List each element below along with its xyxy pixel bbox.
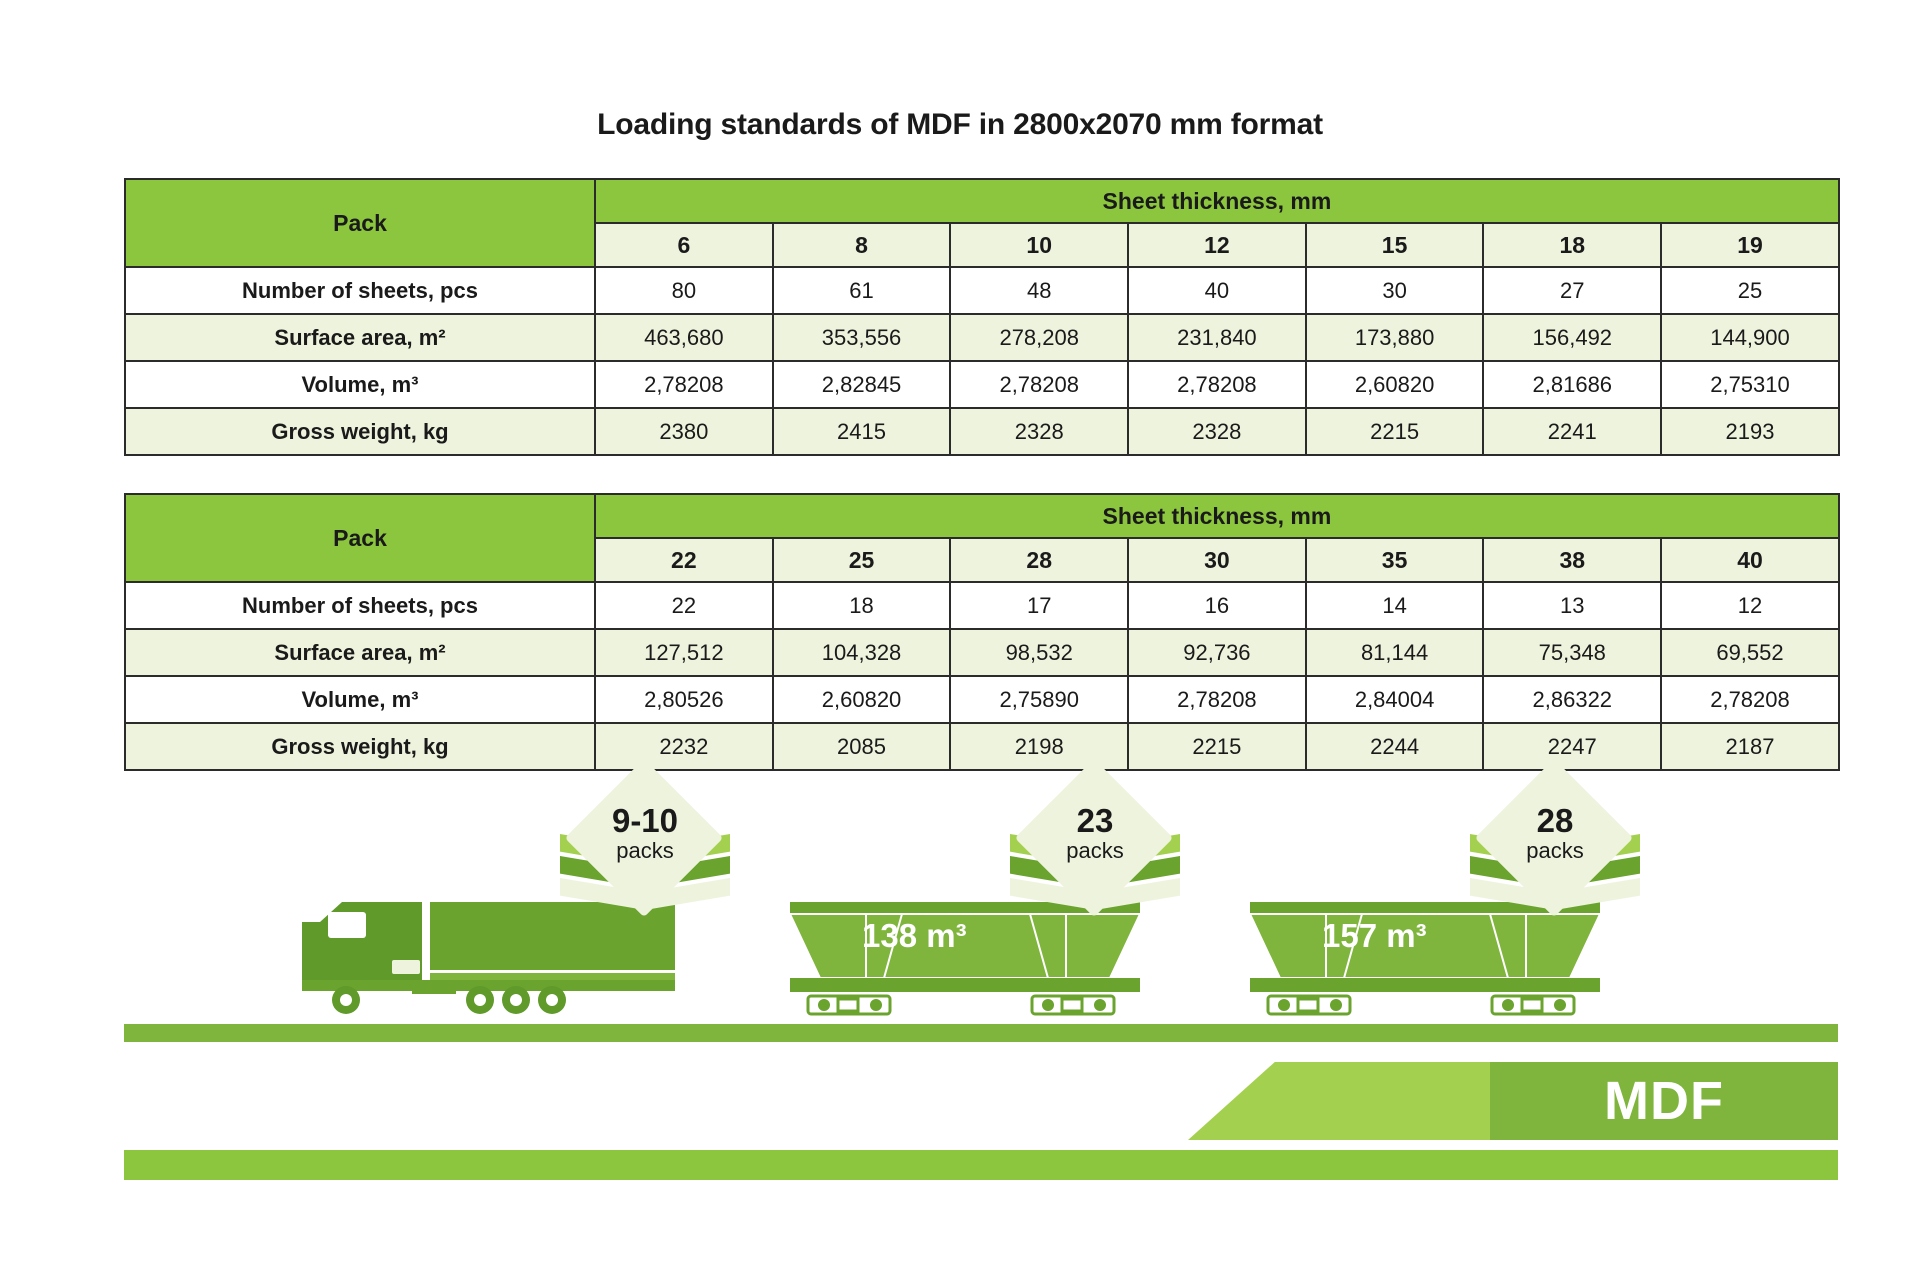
cell: 2,60820 (773, 676, 951, 723)
wagon-1-pack-count: 23 (1010, 804, 1180, 838)
cell: 144,900 (1661, 314, 1839, 361)
wagon-1-pack-unit: packs (1010, 838, 1180, 864)
sheet-thickness-header: Sheet thickness, mm (595, 494, 1839, 538)
cell: 2,86322 (1483, 676, 1661, 723)
truck-pack-text: 9-10 packs (560, 804, 730, 864)
cell: 80 (595, 267, 773, 314)
row-label: Number of sheets, pcs (125, 267, 595, 314)
cell: 27 (1483, 267, 1661, 314)
row-label: Number of sheets, pcs (125, 582, 595, 629)
loading-table-thick: Pack Sheet thickness, mm 22 25 28 30 35 … (124, 493, 1838, 771)
thickness-header-6: 19 (1661, 223, 1839, 267)
cell: 81,144 (1306, 629, 1484, 676)
cell: 2241 (1483, 408, 1661, 455)
thickness-header-3: 12 (1128, 223, 1306, 267)
wagon-capacity-1: 138 m³ (862, 917, 967, 955)
row-label: Gross weight, kg (125, 723, 595, 770)
thickness-header-1: 8 (773, 223, 951, 267)
table-row: Volume, m³ 2,78208 2,82845 2,78208 2,782… (125, 361, 1839, 408)
table-row: Number of sheets, pcs 80 61 48 40 30 27 … (125, 267, 1839, 314)
table-header-row: Pack Sheet thickness, mm (125, 494, 1839, 538)
cell: 98,532 (950, 629, 1128, 676)
row-label: Volume, m³ (125, 676, 595, 723)
cell: 22 (595, 582, 773, 629)
cell: 156,492 (1483, 314, 1661, 361)
ground-line (124, 1024, 1838, 1042)
thickness-header-0: 22 (595, 538, 773, 582)
wagon-2-pack-text: 28 packs (1470, 804, 1640, 864)
cell: 2215 (1306, 408, 1484, 455)
table-row: Surface area, m² 127,512 104,328 98,532 … (125, 629, 1839, 676)
thickness-header-5: 18 (1483, 223, 1661, 267)
thickness-header-2: 10 (950, 223, 1128, 267)
cell: 92,736 (1128, 629, 1306, 676)
cell: 12 (1661, 582, 1839, 629)
cell: 18 (773, 582, 951, 629)
row-label: Surface area, m² (125, 314, 595, 361)
truck-pack-badge: 9-10 packs (560, 782, 730, 937)
truck-pack-count: 9-10 (560, 804, 730, 838)
wagon-1-pack-badge: 23 packs (1010, 782, 1180, 937)
thickness-header-4: 15 (1306, 223, 1484, 267)
thickness-header-3: 30 (1128, 538, 1306, 582)
cell: 61 (773, 267, 951, 314)
cell: 2415 (773, 408, 951, 455)
cell: 2,78208 (1128, 676, 1306, 723)
cell: 2380 (595, 408, 773, 455)
cell: 278,208 (950, 314, 1128, 361)
cell: 2,78208 (1128, 361, 1306, 408)
table-header-row: Pack Sheet thickness, mm (125, 179, 1839, 223)
cell: 75,348 (1483, 629, 1661, 676)
thickness-header-2: 28 (950, 538, 1128, 582)
cell: 2,78208 (595, 361, 773, 408)
table-row: Volume, m³ 2,80526 2,60820 2,75890 2,782… (125, 676, 1839, 723)
cell: 2,78208 (950, 361, 1128, 408)
table: Pack Sheet thickness, mm 22 25 28 30 35 … (124, 493, 1840, 771)
thickness-header-0: 6 (595, 223, 773, 267)
cell: 2232 (595, 723, 773, 770)
thickness-header-6: 40 (1661, 538, 1839, 582)
cell: 13 (1483, 582, 1661, 629)
cell: 127,512 (595, 629, 773, 676)
thickness-header-1: 25 (773, 538, 951, 582)
cell: 173,880 (1306, 314, 1484, 361)
footer-bar (124, 1150, 1838, 1180)
cell: 25 (1661, 267, 1839, 314)
cell: 2,78208 (1661, 676, 1839, 723)
thickness-header-5: 38 (1483, 538, 1661, 582)
cell: 69,552 (1661, 629, 1839, 676)
cell: 40 (1128, 267, 1306, 314)
cell: 2,84004 (1306, 676, 1484, 723)
table-row: Gross weight, kg 2380 2415 2328 2328 221… (125, 408, 1839, 455)
table-row: Gross weight, kg 2232 2085 2198 2215 224… (125, 723, 1839, 770)
cell: 2,75890 (950, 676, 1128, 723)
cell: 2244 (1306, 723, 1484, 770)
cell: 17 (950, 582, 1128, 629)
pack-header-cell: Pack (125, 179, 595, 267)
row-label: Gross weight, kg (125, 408, 595, 455)
cell: 48 (950, 267, 1128, 314)
cell: 2,82845 (773, 361, 951, 408)
cell: 2247 (1483, 723, 1661, 770)
loading-table-thin: Pack Sheet thickness, mm 6 8 10 12 15 18… (124, 178, 1838, 456)
cell: 2328 (950, 408, 1128, 455)
cell: 104,328 (773, 629, 951, 676)
thickness-header-4: 35 (1306, 538, 1484, 582)
table-row: Surface area, m² 463,680 353,556 278,208… (125, 314, 1839, 361)
page-title: Loading standards of MDF in 2800x2070 mm… (0, 108, 1920, 142)
cell: 231,840 (1128, 314, 1306, 361)
wagon-capacity-2: 157 m³ (1322, 917, 1427, 955)
wagon-1-pack-text: 23 packs (1010, 804, 1180, 864)
cell: 2,80526 (595, 676, 773, 723)
row-label: Volume, m³ (125, 361, 595, 408)
wagon-2-pack-badge: 28 packs (1470, 782, 1640, 937)
cell: 2328 (1128, 408, 1306, 455)
cell: 30 (1306, 267, 1484, 314)
infographic-page: Loading standards of MDF in 2800x2070 mm… (0, 0, 1920, 1280)
cell: 2,75310 (1661, 361, 1839, 408)
row-label: Surface area, m² (125, 629, 595, 676)
table-row: Number of sheets, pcs 22 18 17 16 14 13 … (125, 582, 1839, 629)
cell: 2,81686 (1483, 361, 1661, 408)
cell: 2215 (1128, 723, 1306, 770)
cell: 2193 (1661, 408, 1839, 455)
cell: 2,60820 (1306, 361, 1484, 408)
cell: 463,680 (595, 314, 773, 361)
wagon-2-pack-unit: packs (1470, 838, 1640, 864)
cell: 14 (1306, 582, 1484, 629)
pack-header-cell: Pack (125, 494, 595, 582)
cell: 16 (1128, 582, 1306, 629)
cell: 353,556 (773, 314, 951, 361)
table: Pack Sheet thickness, mm 6 8 10 12 15 18… (124, 178, 1840, 456)
cell: 2198 (950, 723, 1128, 770)
cell: 2187 (1661, 723, 1839, 770)
sheet-thickness-header: Sheet thickness, mm (595, 179, 1839, 223)
truck-pack-unit: packs (560, 838, 730, 864)
brand-label: MDF (1490, 1062, 1838, 1140)
cell: 2085 (773, 723, 951, 770)
wagon-2-pack-count: 28 (1470, 804, 1640, 838)
vehicle-illustration: 9-10 packs (0, 800, 1920, 1280)
